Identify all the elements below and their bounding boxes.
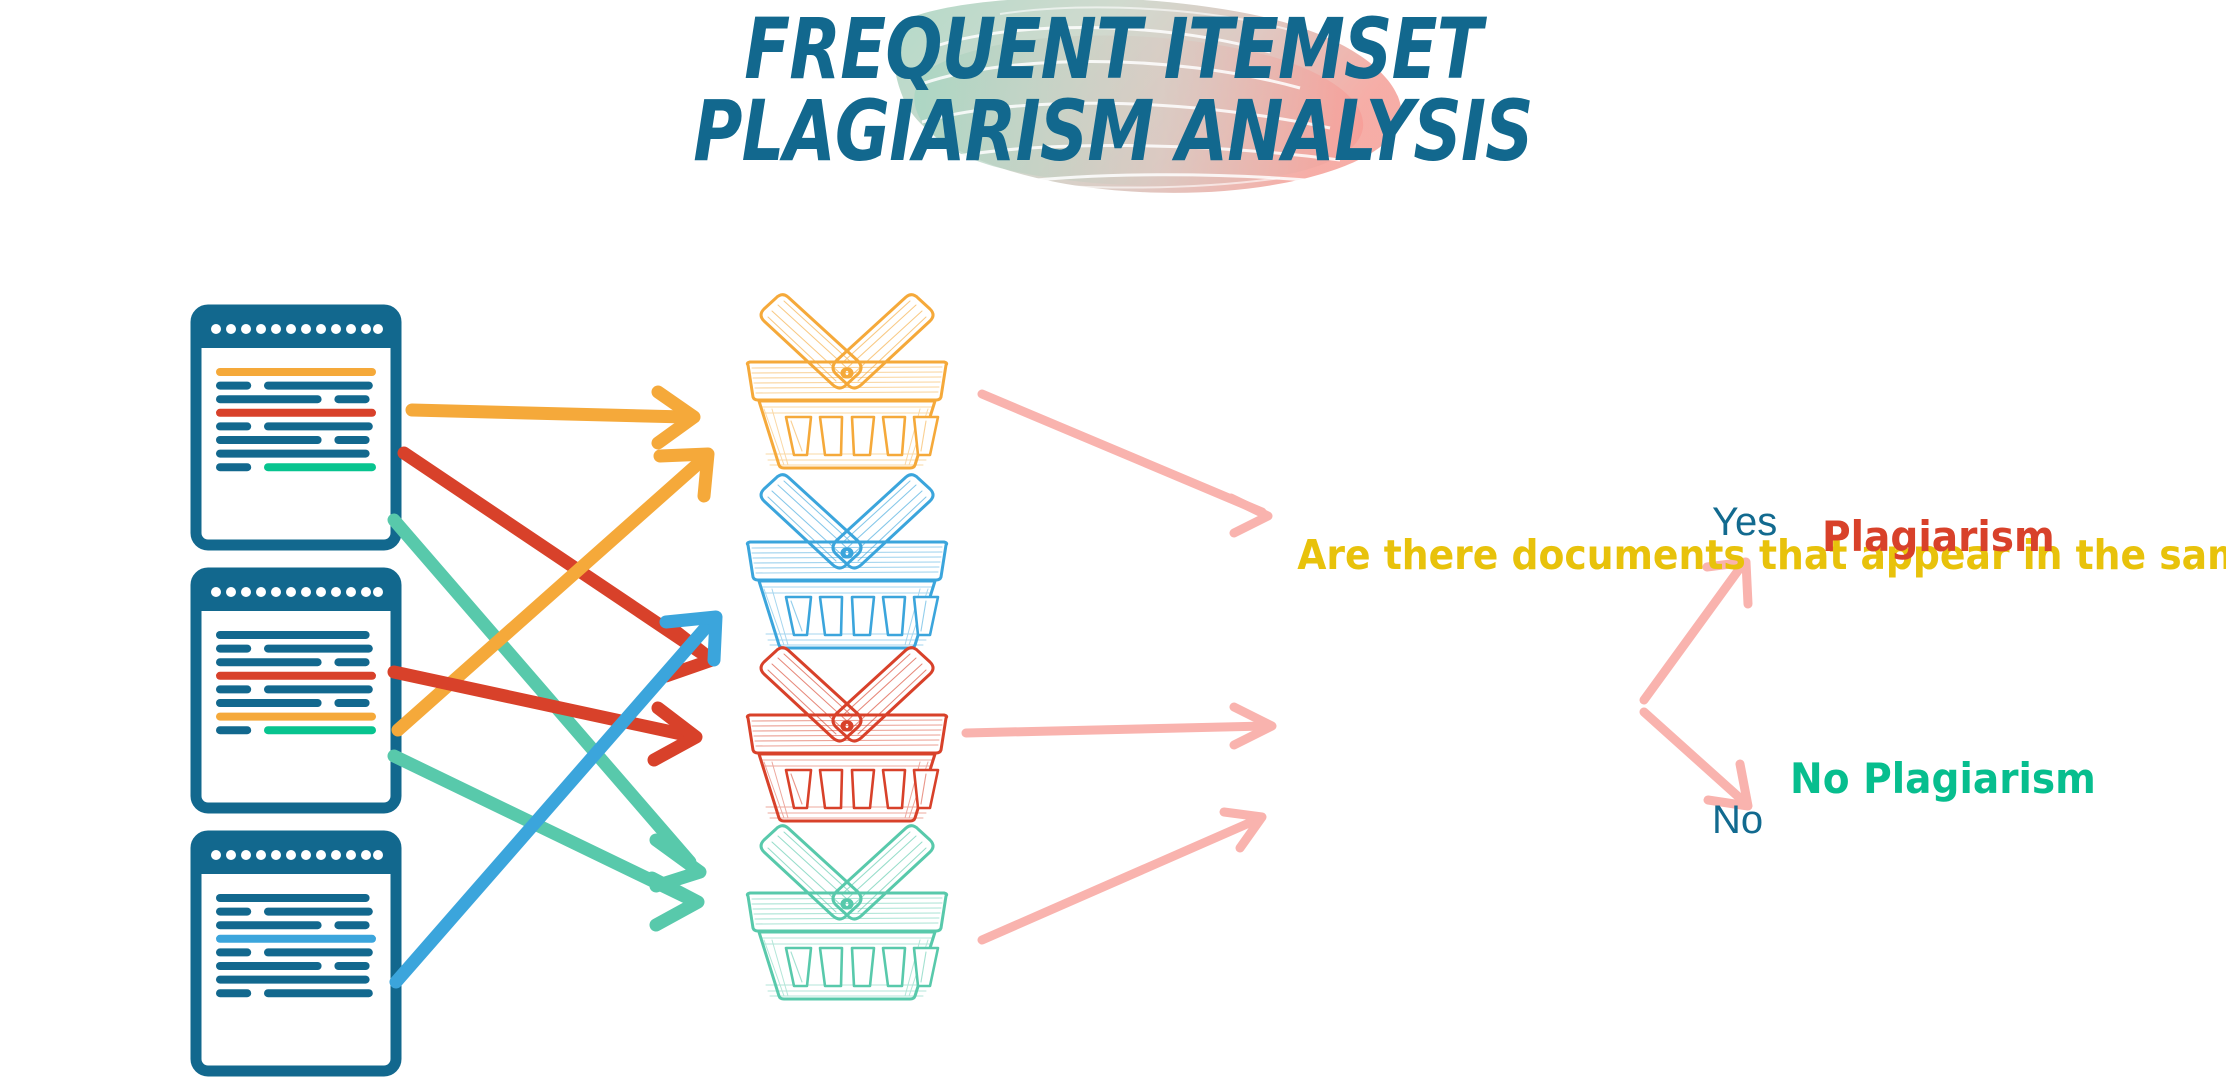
arrow-question-to-yes (1644, 562, 1748, 700)
arrow-basket-red-to-question (966, 707, 1272, 745)
arrow-question-to-no (1644, 712, 1748, 806)
arrow-basket-green-to-question (982, 812, 1262, 940)
no-label: No (1712, 798, 1763, 843)
arrow-basket-orange-to-question (982, 394, 1268, 533)
outcome-no-plagiarism: No Plagiarism (1790, 754, 2096, 803)
yes-label: Yes (1712, 500, 1777, 545)
diagram-canvas: FREQUENT ITEMSET PLAGIARISM ANALYSIS (0, 0, 2226, 1079)
outcome-plagiarism: Plagiarism (1822, 512, 2055, 561)
decision-question: Are there documents that appear in the s… (1297, 528, 1647, 582)
